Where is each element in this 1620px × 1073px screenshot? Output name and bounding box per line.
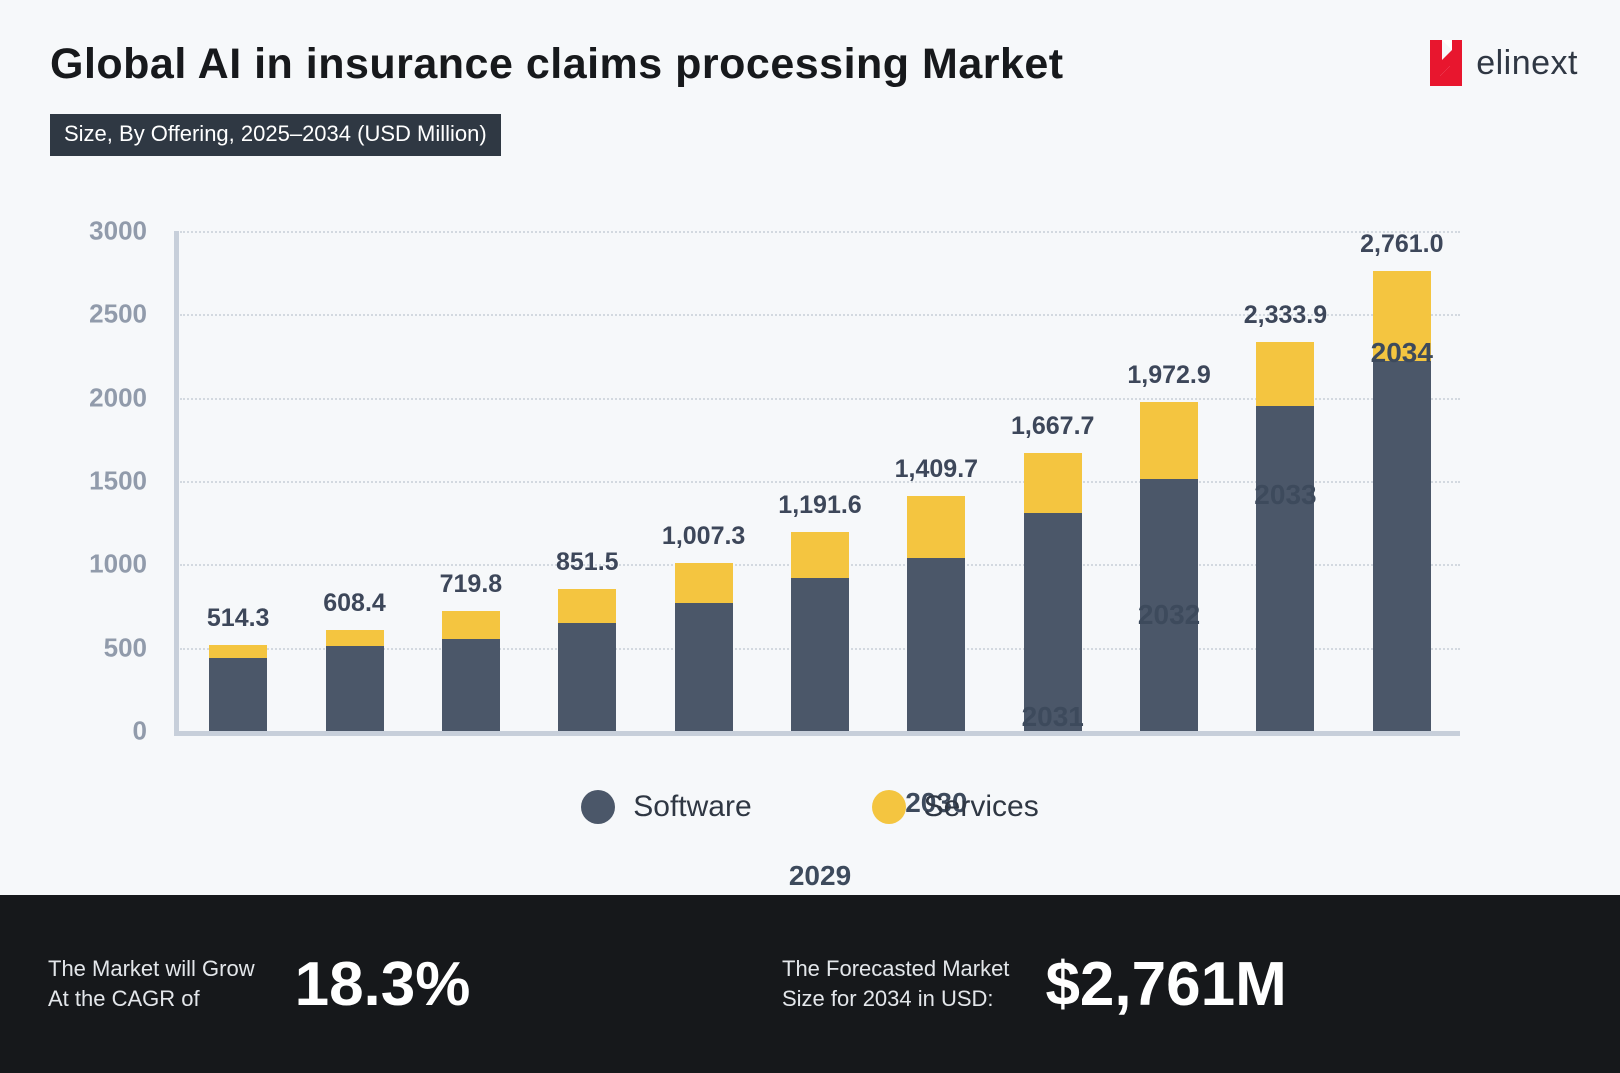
brand-logo: elinext bbox=[1428, 38, 1578, 88]
bar-segment-software[interactable] bbox=[791, 578, 849, 731]
elinext-logo-icon bbox=[1428, 38, 1464, 88]
bar-segment-services[interactable] bbox=[907, 496, 965, 558]
x-axis-tick-label: 2034 bbox=[1371, 337, 1433, 369]
bar-segment-software[interactable] bbox=[326, 646, 384, 732]
footer-stats: The Market will Grow At the CAGR of 18.3… bbox=[0, 895, 1620, 1073]
x-axis-tick-label: 2033 bbox=[1254, 479, 1316, 511]
bar-stack[interactable]: 2,333.92033 bbox=[1256, 342, 1314, 731]
bar-segment-services[interactable] bbox=[209, 645, 267, 658]
bar-value-label: 1,007.3 bbox=[662, 522, 745, 551]
bar-stack[interactable]: 851.52027 bbox=[558, 589, 616, 731]
bar-value-label: 1,409.7 bbox=[895, 455, 978, 484]
bar-value-label: 1,667.7 bbox=[1011, 412, 1094, 441]
y-axis-line bbox=[174, 231, 179, 731]
bar-stack[interactable]: 1,007.32028 bbox=[675, 563, 733, 731]
bar-value-label: 2,761.0 bbox=[1360, 230, 1443, 259]
bar-value-label: 719.8 bbox=[440, 570, 503, 599]
bar-segment-software[interactable] bbox=[1024, 513, 1082, 731]
bar-value-label: 851.5 bbox=[556, 548, 619, 577]
header: Global AI in insurance claims processing… bbox=[0, 0, 1620, 185]
bar-series: 514.32024608.42025719.82026851.520271,00… bbox=[180, 231, 1460, 731]
y-axis-tick-label: 3000 bbox=[7, 216, 147, 247]
y-axis-tick-label: 2000 bbox=[7, 382, 147, 413]
logo-wordmark: elinext bbox=[1476, 44, 1578, 83]
subtitle-badge: Size, By Offering, 2025–2034 (USD Millio… bbox=[50, 114, 501, 156]
bar-value-label: 2,333.9 bbox=[1244, 301, 1327, 330]
bar-segment-software[interactable] bbox=[558, 623, 616, 731]
y-axis-tick-label: 0 bbox=[7, 716, 147, 747]
bar-value-label: 608.4 bbox=[323, 589, 386, 618]
bar-stack[interactable]: 2,761.02034 bbox=[1373, 271, 1431, 731]
legend-swatch-icon bbox=[581, 790, 615, 824]
infographic-page: Global AI in insurance claims processing… bbox=[0, 0, 1620, 1073]
bar-stack[interactable]: 608.42025 bbox=[326, 630, 384, 731]
x-axis-line bbox=[174, 731, 1460, 736]
bar-stack[interactable]: 1,191.62029 bbox=[791, 532, 849, 731]
x-axis-tick-label: 2031 bbox=[1022, 701, 1084, 733]
x-axis-tick-label: 2029 bbox=[789, 860, 851, 892]
bar-segment-software[interactable] bbox=[675, 603, 733, 731]
stat-forecast-value: $2,761M bbox=[1045, 949, 1286, 1020]
bar-segment-services[interactable] bbox=[1256, 342, 1314, 406]
bar-segment-services[interactable] bbox=[326, 630, 384, 646]
page-title: Global AI in insurance claims processing… bbox=[50, 40, 1064, 89]
bar-segment-services[interactable] bbox=[442, 611, 500, 639]
legend-swatch-icon bbox=[872, 790, 906, 824]
stat-cagr-caption: The Market will Grow At the CAGR of bbox=[48, 954, 255, 1013]
bar-segment-services[interactable] bbox=[675, 563, 733, 603]
chart: 050010001500200025003000 514.32024608.42… bbox=[0, 185, 1620, 895]
bar-value-label: 514.3 bbox=[207, 604, 270, 633]
chart-legend: SoftwareServices bbox=[0, 790, 1620, 824]
subtitle-text: Size, By Offering, 2025–2034 (USD Millio… bbox=[64, 121, 487, 146]
stat-cagr-value: 18.3% bbox=[295, 949, 471, 1020]
legend-item[interactable]: Services bbox=[872, 790, 1039, 824]
legend-item[interactable]: Software bbox=[581, 790, 751, 824]
bar-stack[interactable]: 1,972.92032 bbox=[1140, 402, 1198, 731]
y-axis-tick-label: 500 bbox=[7, 632, 147, 663]
bar-segment-software[interactable] bbox=[907, 558, 965, 731]
legend-label: Services bbox=[924, 790, 1039, 824]
bar-stack[interactable]: 514.32024 bbox=[209, 645, 267, 731]
bar-segment-services[interactable] bbox=[1140, 402, 1198, 479]
bar-stack[interactable]: 1,667.72031 bbox=[1024, 453, 1082, 731]
stat-forecast-caption: The Forecasted Market Size for 2034 in U… bbox=[782, 954, 1009, 1013]
bar-value-label: 1,972.9 bbox=[1127, 361, 1210, 390]
x-axis-tick-label: 2032 bbox=[1138, 599, 1200, 631]
bar-segment-software[interactable] bbox=[1256, 406, 1314, 731]
bar-segment-services[interactable] bbox=[1024, 453, 1082, 513]
bar-segment-services[interactable] bbox=[791, 532, 849, 577]
bar-value-label: 1,191.6 bbox=[778, 491, 861, 520]
stat-cagr: The Market will Grow At the CAGR of 18.3… bbox=[48, 949, 470, 1020]
bar-segment-software[interactable] bbox=[442, 639, 500, 731]
y-axis-labels: 050010001500200025003000 bbox=[0, 231, 165, 731]
bar-segment-software[interactable] bbox=[209, 658, 267, 731]
y-axis-tick-label: 1000 bbox=[7, 549, 147, 580]
bar-segment-services[interactable] bbox=[558, 589, 616, 623]
bar-stack[interactable]: 719.82026 bbox=[442, 611, 500, 731]
y-axis-tick-label: 1500 bbox=[7, 466, 147, 497]
y-axis-tick-label: 2500 bbox=[7, 299, 147, 330]
bar-stack[interactable]: 1,409.72030 bbox=[907, 496, 965, 731]
legend-label: Software bbox=[633, 790, 751, 824]
stat-forecast: The Forecasted Market Size for 2034 in U… bbox=[782, 949, 1287, 1020]
bar-segment-software[interactable] bbox=[1373, 361, 1431, 731]
